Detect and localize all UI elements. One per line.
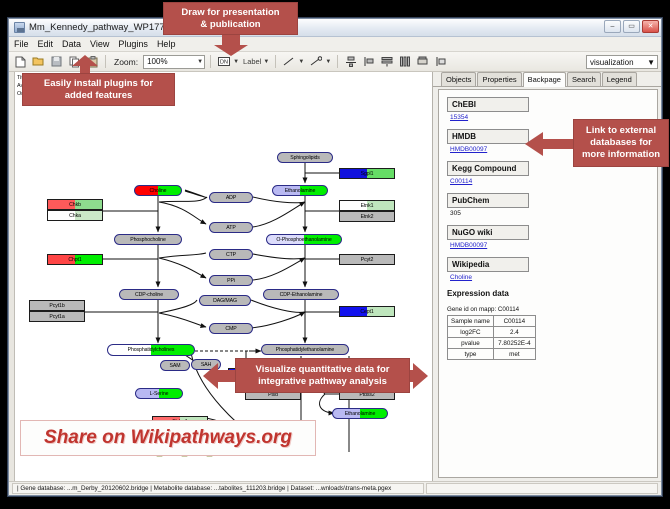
node-ethanolamine-right[interactable]: Ethanolamine [332, 408, 388, 419]
node-choline-top[interactable]: Choline [134, 185, 182, 196]
app-icon [14, 22, 25, 33]
annotation-visualize-line1: Visualize quantitative data for [256, 364, 390, 376]
node-label: CTP [226, 252, 236, 258]
gene-id-text: Gene id on mapp: C00114 [447, 306, 649, 313]
annotation-plugins-line1: Easily install plugins for [44, 78, 153, 90]
node-etnk1[interactable]: Etnk1 [339, 200, 395, 211]
node-label: Sgpl1 [361, 171, 374, 177]
node-atp[interactable]: ATP [209, 222, 253, 233]
toolbar-separator [105, 55, 106, 68]
table-row: pvalue 7.80252E-4 [448, 338, 536, 349]
db-label-wikipedia: Wikipedia [447, 257, 529, 272]
menu-item-file[interactable]: File [14, 39, 29, 49]
menu-bar: File Edit Data View Plugins Help [9, 37, 661, 52]
side-panel-tabs: Objects Properties Backpage Search Legen… [433, 72, 661, 87]
node-ppi[interactable]: PPi [209, 275, 253, 286]
align-left-icon[interactable] [361, 54, 376, 69]
node-ctp[interactable]: CTP [209, 249, 253, 260]
svg-text:DN: DN [220, 60, 228, 66]
datanode-icon[interactable]: DN [216, 54, 231, 69]
save-icon[interactable] [49, 54, 64, 69]
toolbar-separator [210, 55, 211, 68]
chevron-down-icon[interactable]: ▼ [197, 59, 203, 65]
share-callout: Share on Wikipathways.org [20, 420, 316, 456]
node-label: L-Serine [150, 391, 169, 397]
chevron-down-icon[interactable]: ▼ [325, 59, 331, 65]
chevron-down-icon[interactable]: ▼ [298, 59, 304, 65]
expression-data-title: Expression data [447, 289, 649, 298]
table-row: Sample name C00114 [448, 316, 536, 327]
table-cell-value: met [493, 349, 535, 360]
share-text: Share on Wikipathways.org [44, 427, 292, 449]
zoom-value: 100% [147, 57, 167, 66]
table-cell-value: 7.80252E-4 [493, 338, 535, 349]
db-link-chebi[interactable]: 15354 [450, 114, 468, 121]
tab-legend[interactable]: Legend [602, 72, 637, 86]
node-label: O-Phosphoethanolamine [276, 237, 331, 243]
db-value-wikipedia[interactable]: Choline [450, 274, 649, 281]
node-label: Phosphatidylcholines [128, 347, 175, 353]
toolbar-separator [275, 55, 276, 68]
db-link-hmdb[interactable]: HMDB00097 [450, 146, 487, 153]
chevron-down-icon[interactable]: ▼ [233, 59, 239, 65]
node-label: Chpt1 [68, 257, 81, 263]
annotation-visualize-line2: integrative pathway analysis [258, 376, 387, 388]
node-label: Ethanolamine [285, 188, 316, 194]
table-cell-value: 2.4 [493, 327, 535, 338]
toolbar: Zoom: 100% ▼ DN ▼ Label ▼ ▼ ▼ [9, 52, 661, 72]
align-center-icon[interactable] [343, 54, 358, 69]
minimize-button[interactable]: – [604, 20, 621, 33]
tab-objects[interactable]: Objects [441, 72, 476, 86]
annotation-plugins: Easily install plugins for added feature… [22, 73, 175, 106]
open-folder-icon[interactable] [31, 54, 46, 69]
new-file-icon[interactable] [13, 54, 28, 69]
annotation-draw-line2: & publication [200, 19, 260, 31]
menu-item-help[interactable]: Help [157, 39, 176, 49]
menu-item-plugins[interactable]: Plugins [118, 39, 148, 49]
maximize-button[interactable]: ▭ [623, 20, 640, 33]
status-right-slot [426, 483, 658, 494]
node-label: CDP-Ethanolamine [280, 292, 323, 298]
node-label: Etnk2 [361, 214, 374, 220]
node-etnk2[interactable]: Etnk2 [339, 211, 395, 222]
annotation-plugins-arrow [72, 55, 98, 75]
annotation-link: Link to external databases for more info… [573, 119, 669, 167]
db-link-kegg[interactable]: C00114 [450, 178, 472, 185]
table-cell-key: pvalue [448, 338, 494, 349]
db-label-hmdb: HMDB [447, 129, 529, 144]
node-label: Pcyt2 [361, 257, 373, 263]
db-value-pubchem: 305 [450, 210, 649, 217]
ungroup-icon[interactable] [433, 54, 448, 69]
node-pcyt2[interactable]: Pcyt2 [339, 254, 395, 265]
node-label: Etnk1 [361, 203, 374, 209]
node-label: DAG/MAG [213, 298, 237, 304]
node-phosphocholine[interactable]: Phosphocholine [114, 234, 182, 245]
node-label: ATP [226, 225, 235, 231]
close-button[interactable]: ✕ [642, 20, 659, 33]
node-dag-mag[interactable]: DAG/MAG [199, 295, 251, 306]
node-label: Cept1 [360, 309, 373, 315]
table-cell-value: C00114 [493, 316, 535, 327]
db-link-nugo[interactable]: HMDB00097 [450, 242, 487, 249]
chevron-down-icon[interactable]: ▼ [263, 59, 269, 65]
node-phosphatidylcholines[interactable]: Phosphatidylcholines [107, 344, 195, 356]
node-sgpl1[interactable]: Sgpl1 [339, 168, 395, 179]
node-chkb[interactable]: Chkb [47, 199, 103, 210]
db-label-nugo: NuGO wiki [447, 225, 529, 240]
node-label: Chkb [69, 202, 81, 208]
node-pcyt1b[interactable]: Pcyt1b [29, 300, 85, 311]
menu-item-data[interactable]: Data [62, 39, 81, 49]
annotation-visualize-arrow-left [203, 363, 239, 389]
annotation-visualize: Visualize quantitative data for integrat… [235, 358, 410, 393]
annotation-draw: Draw for presentation & publication [163, 2, 298, 35]
annotation-plugins-line2: added features [65, 90, 133, 102]
menu-item-edit[interactable]: Edit [38, 39, 54, 49]
node-label: Sphingolipids [290, 155, 320, 161]
table-cell-key: Sample name [448, 316, 494, 327]
node-chka[interactable]: Chka [47, 210, 103, 221]
node-label: Chka [69, 213, 81, 219]
node-ethanolamine-top[interactable]: Ethanolamine [272, 185, 328, 196]
expression-table: Sample name C00114 log2FC 2.4 pvalue 7.8… [447, 315, 536, 360]
title-bar: Mm_Kennedy_pathway_WP1771_45176.gpml – ▭… [9, 19, 661, 37]
node-label: Pcyt1b [49, 303, 64, 309]
node-cdp-choline[interactable]: CDP-choline [119, 289, 179, 300]
node-label: Ethanolamine [345, 411, 376, 417]
tab-backpage[interactable]: Backpage [523, 72, 566, 87]
db-link-wikipedia[interactable]: Choline [450, 274, 472, 281]
distribute-vertical-icon[interactable] [379, 54, 394, 69]
node-label: CMP [225, 326, 236, 332]
node-label: Choline [150, 188, 167, 194]
status-bar: | Gene database: ...m_Derby_20120602.bri… [9, 481, 661, 495]
tab-properties[interactable]: Properties [477, 72, 521, 86]
zoom-combo[interactable]: 100% ▼ [143, 55, 205, 69]
table-row: log2FC 2.4 [448, 327, 536, 338]
node-chpt1[interactable]: Chpt1 [47, 254, 103, 265]
node-label: CDP-choline [135, 292, 163, 298]
node-pcyt1a[interactable]: Pcyt1a [29, 311, 85, 322]
db-label-chebi: ChEBI [447, 97, 529, 112]
node-label: Phosphatidylethanolamine [276, 347, 334, 353]
db-value-kegg[interactable]: C00114 [450, 178, 649, 185]
window-controls[interactable]: – ▭ ✕ [604, 20, 659, 33]
chevron-down-icon[interactable]: ▼ [647, 58, 655, 67]
annotation-link-line3: more information [582, 149, 660, 161]
node-cdp-ethanolamine[interactable]: CDP-Ethanolamine [263, 289, 339, 300]
group-icon[interactable] [415, 54, 430, 69]
node-o-phosphoethanolamine[interactable]: O-Phosphoethanolamine [266, 234, 342, 245]
db-label-pubchem: PubChem [447, 193, 529, 208]
node-sphingolipids[interactable]: Sphingolipids [277, 152, 333, 163]
node-label: Pcyt1a [49, 314, 64, 320]
node-label: PPi [227, 278, 235, 284]
line-tool-icon[interactable] [281, 54, 296, 69]
annotation-draw-line1: Draw for presentation [181, 7, 279, 19]
table-cell-key: type [448, 349, 494, 360]
annotation-draw-arrow [214, 34, 248, 56]
visualization-value: visualization [590, 58, 634, 67]
db-label-kegg: Kegg Compound [447, 161, 529, 176]
visualization-combo[interactable]: visualization ▼ [586, 55, 658, 69]
node-sam[interactable]: SAM [160, 360, 190, 371]
distribute-horizontal-icon[interactable] [397, 54, 412, 69]
status-text: | Gene database: ...m_Derby_20120602.bri… [12, 483, 424, 494]
annotation-link-line1: Link to external [586, 125, 656, 137]
db-value-nugo[interactable]: HMDB00097 [450, 242, 649, 249]
interaction-tool-icon[interactable] [308, 54, 323, 69]
node-label: SAM [170, 363, 181, 369]
node-label: ADP [226, 195, 236, 201]
node-cept1[interactable]: Cept1 [339, 306, 395, 317]
annotation-link-line2: databases for [590, 137, 652, 149]
table-row: type met [448, 349, 536, 360]
node-label: Phosphocholine [130, 237, 166, 243]
label-tool-label[interactable]: Label [243, 57, 261, 66]
menu-item-view[interactable]: View [90, 39, 109, 49]
node-l-serine-left[interactable]: L-Serine [135, 388, 183, 399]
tab-search[interactable]: Search [567, 72, 601, 86]
table-cell-key: log2FC [448, 327, 494, 338]
annotation-link-arrow [525, 132, 575, 156]
node-cmp[interactable]: CMP [209, 323, 253, 334]
toolbar-separator [337, 55, 338, 68]
node-adp[interactable]: ADP [209, 192, 253, 203]
node-phosphatidylethanolamine[interactable]: Phosphatidylethanolamine [261, 344, 349, 355]
zoom-label: Zoom: [114, 57, 138, 67]
